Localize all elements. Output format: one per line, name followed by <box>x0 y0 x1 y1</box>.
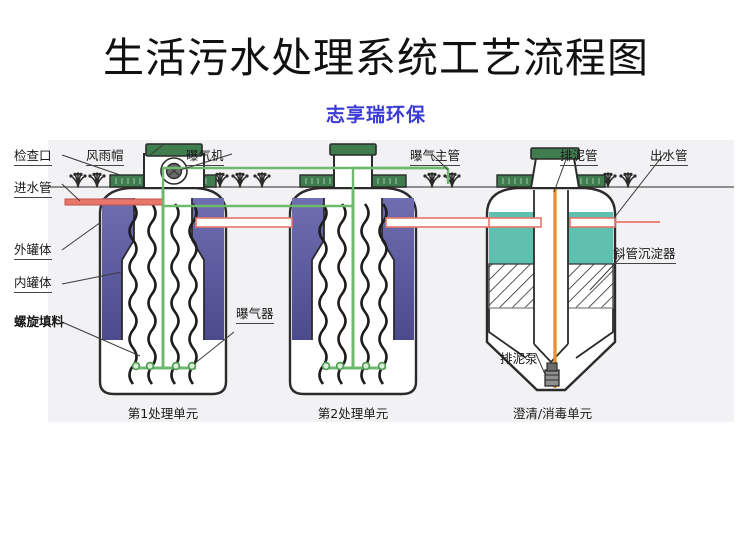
clarifier-inlet-weir <box>489 218 541 227</box>
sludge-pump <box>545 363 559 386</box>
label-rain-cap: 风雨帽 <box>86 145 124 166</box>
inlet-pipe <box>65 199 163 205</box>
page-subtitle: 志享瑞环保 <box>0 100 752 127</box>
label-aeration-main-pipe: 曝气主管 <box>410 145 460 166</box>
label-outlet-pipe: 出水管 <box>650 145 688 166</box>
unit-label-1: 第1处理单元 <box>113 403 213 422</box>
label-inlet-pipe: 进水管 <box>14 177 52 198</box>
transfer-pipe-1-to-2 <box>196 218 292 227</box>
label-outer-tank-body: 外罐体 <box>14 239 52 260</box>
label-spiral-filler: 螺旋填料 <box>14 311 64 330</box>
treatment-unit-2 <box>290 175 416 394</box>
label-aerator-diffuser: 曝气器 <box>236 303 274 324</box>
label-inclined-tube-settler: 斜管沉淀器 <box>613 243 676 264</box>
label-sludge-pump: 排泥泵 <box>500 348 538 367</box>
transfer-pipe-2-to-3 <box>386 218 496 227</box>
rain-cap-2 <box>330 144 376 155</box>
label-inner-tank-body: 内罐体 <box>14 272 52 293</box>
label-aerator-blower: 曝气机 <box>186 145 224 166</box>
inspection-port-3a <box>497 175 533 187</box>
process-flow-diagram <box>0 132 752 432</box>
unit-label-3: 澄清/消毒单元 <box>490 403 615 422</box>
page-title: 生活污水处理系统工艺流程图 <box>0 24 752 84</box>
label-sludge-discharge-pipe: 排泥管 <box>560 145 598 166</box>
unit-label-2: 第2处理单元 <box>303 403 403 422</box>
label-inspection-port: 检查口 <box>14 145 52 166</box>
diagram-page: 生活污水处理系统工艺流程图 志享瑞环保 <box>0 0 752 557</box>
